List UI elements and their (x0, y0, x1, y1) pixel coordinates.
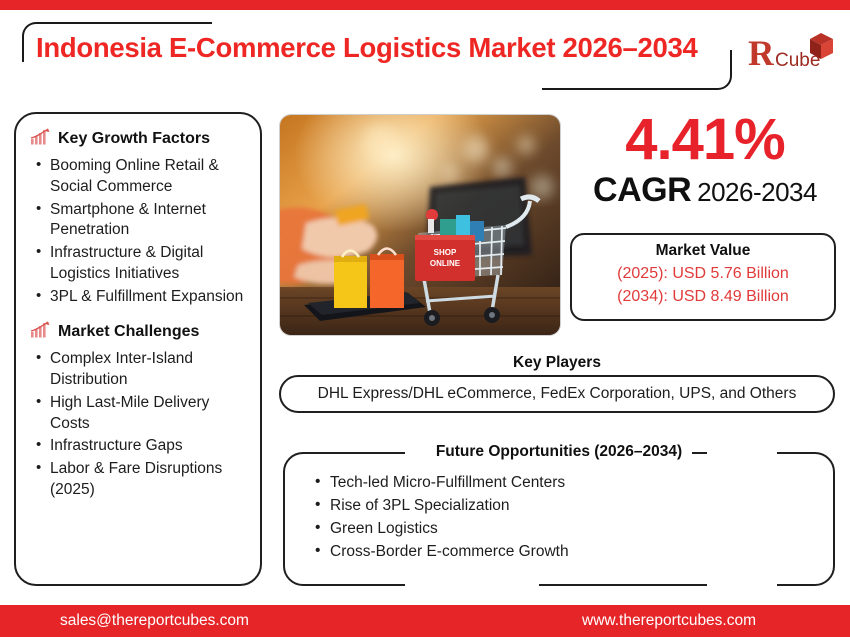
future-opportunities-box: Future Opportunities (2026–2034) Tech-le… (283, 452, 835, 586)
key-players-title: Key Players (279, 354, 835, 372)
cagr-block: 4.41% CAGR 2026-2034 (566, 112, 844, 224)
list-item: High Last-Mile Delivery Costs (30, 393, 248, 435)
bar-chart-growth-icon (30, 321, 50, 343)
list-item: Infrastructure Gaps (30, 436, 248, 457)
future-opportunities-title-text: Future Opportunities (2026–2034) (426, 443, 692, 460)
future-opportunities-list: Tech-led Micro-Fulfillment Centers Rise … (285, 454, 833, 564)
list-item: Rise of 3PL Specialization (313, 495, 833, 518)
market-value-line-2025: (2025): USD 5.76 Billion (572, 263, 834, 286)
title-bracket-frame: Indonesia E-Commerce Logistics Market 20… (22, 22, 732, 90)
list-item: Green Logistics (313, 518, 833, 541)
list-item: Complex Inter-Island Distribution (30, 349, 248, 391)
list-item: 3PL & Fulfillment Expansion (30, 287, 248, 308)
list-item: Booming Online Retail & Social Commerce (30, 156, 248, 198)
market-value-box: Market Value (2025): USD 5.76 Billion (2… (570, 233, 836, 321)
market-challenges-list: Complex Inter-Island Distribution High L… (30, 349, 248, 500)
list-item: Smartphone & Internet Penetration (30, 200, 248, 242)
logo-r-mark: Я (748, 32, 774, 74)
list-item: Infrastructure & Digital Logistics Initi… (30, 243, 248, 285)
cagr-value: 4.41% (566, 112, 844, 169)
cagr-period: 2026-2034 (697, 177, 817, 208)
brand-logo[interactable]: Я Cube (738, 30, 842, 84)
header: Indonesia E-Commerce Logistics Market 20… (0, 14, 850, 100)
cagr-label: CAGR (593, 171, 691, 210)
cube-3d-icon (806, 30, 836, 67)
bar-chart-growth-icon (30, 128, 50, 150)
section-header-growth: Key Growth Factors (30, 128, 248, 150)
svg-text:ONLINE: ONLINE (430, 259, 461, 268)
top-accent-bar (0, 0, 850, 10)
hero-photo-ecommerce: SHOP ONLINE (279, 114, 561, 336)
border-gap (707, 582, 777, 588)
footer-bar: sales@thereportcubes.com www.thereportcu… (0, 605, 850, 637)
section-header-challenges: Market Challenges (30, 321, 248, 343)
section-title-growth: Key Growth Factors (58, 130, 210, 148)
svg-text:SHOP: SHOP (434, 248, 457, 257)
footer-email-link[interactable]: sales@thereportcubes.com (60, 612, 249, 630)
footer-website-link[interactable]: www.thereportcubes.com (582, 612, 756, 630)
key-players-text: DHL Express/DHL eCommerce, FedEx Corpora… (318, 385, 797, 403)
border-gap (405, 582, 539, 588)
key-players-pill: DHL Express/DHL eCommerce, FedEx Corpora… (279, 375, 835, 413)
cagr-label-row: CAGR 2026-2034 (566, 171, 844, 210)
list-item: Cross-Border E-commerce Growth (313, 541, 833, 564)
page-title: Indonesia E-Commerce Logistics Market 20… (36, 32, 726, 64)
future-opportunities-title: Future Opportunities (2026–2034) (285, 443, 833, 461)
section-title-challenges: Market Challenges (58, 323, 199, 341)
market-value-title: Market Value (572, 242, 834, 260)
list-item: Labor & Fare Disruptions (2025) (30, 459, 248, 501)
insights-card: Key Growth Factors Booming Online Retail… (14, 112, 262, 586)
list-item: Tech-led Micro-Fulfillment Centers (313, 472, 833, 495)
market-value-line-2034: (2034): USD 8.49 Billion (572, 286, 834, 309)
growth-factors-list: Booming Online Retail & Social Commerce … (30, 156, 248, 307)
